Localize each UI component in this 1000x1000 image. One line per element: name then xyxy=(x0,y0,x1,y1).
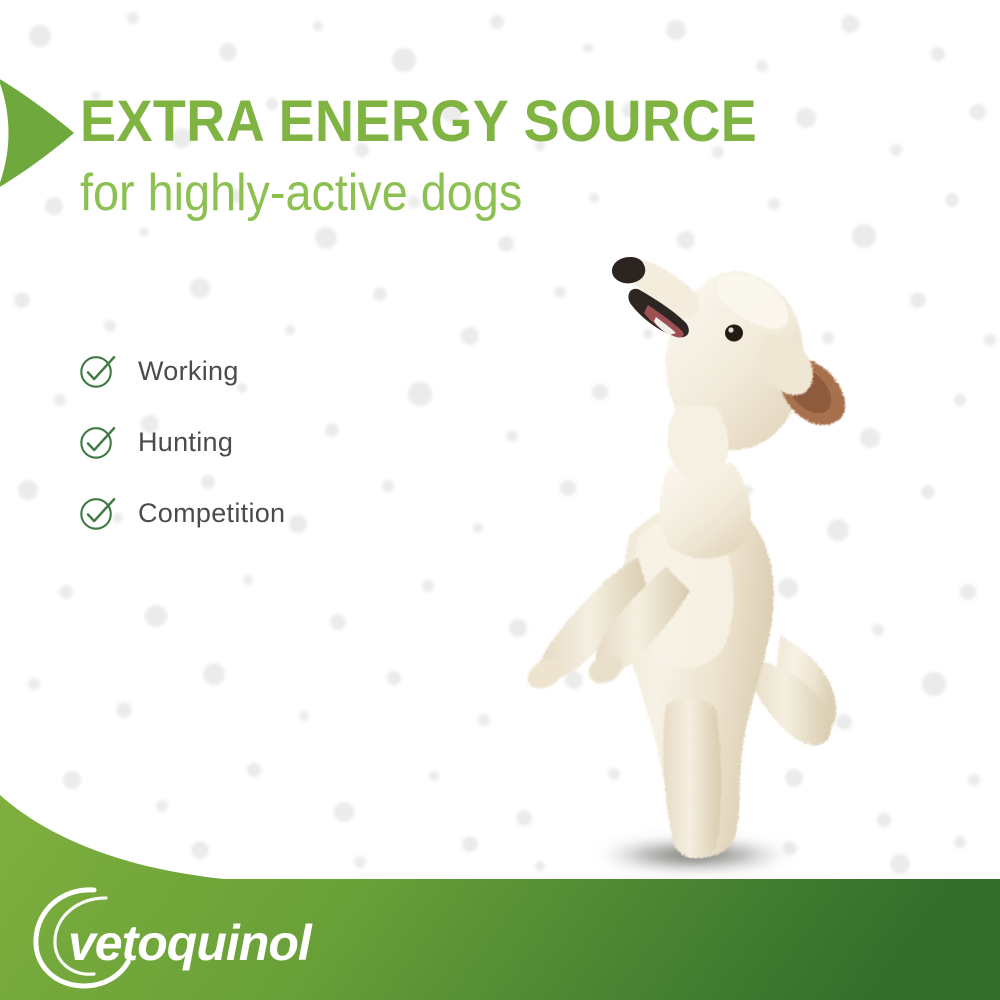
logo-wordmark: vetoquinol xyxy=(68,915,313,971)
list-item-label: Hunting xyxy=(138,427,233,458)
list-item: Competition xyxy=(78,490,285,536)
check-circle-icon xyxy=(78,494,116,532)
page-title: EXTRA ENERGY SOURCE xyxy=(80,92,750,152)
benefit-list: Working Hunting Competition xyxy=(78,348,285,561)
check-circle-icon xyxy=(78,423,116,461)
check-circle-icon xyxy=(78,352,116,390)
headline-block: EXTRA ENERGY SOURCE for highly-active do… xyxy=(80,92,800,220)
list-item-label: Competition xyxy=(138,498,285,529)
list-item-label: Working xyxy=(138,356,239,387)
list-item: Working xyxy=(78,348,285,394)
dog-standing-photo xyxy=(480,205,900,885)
promo-poster: EXTRA ENERGY SOURCE for highly-active do… xyxy=(0,0,1000,1000)
list-item: Hunting xyxy=(78,419,285,465)
vetoquinol-logo[interactable]: vetoquinol xyxy=(22,872,322,992)
green-arrow-accent-icon xyxy=(0,78,74,188)
page-subtitle: for highly-active dogs xyxy=(80,166,728,220)
